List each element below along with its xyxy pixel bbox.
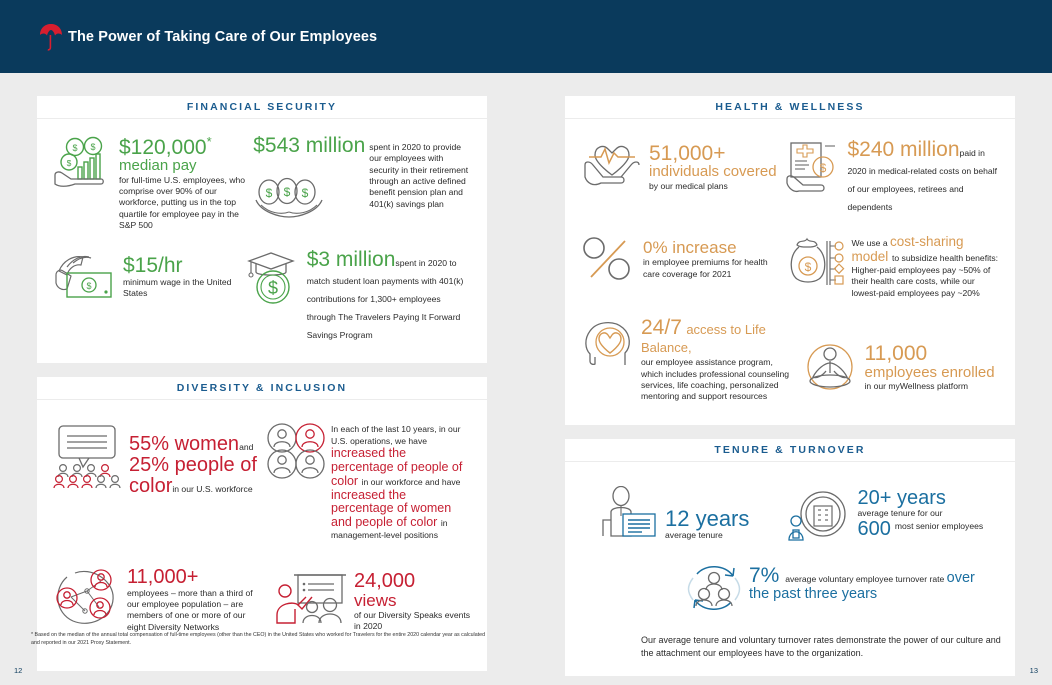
stat-poc-increase-text: In each of the last 10 years, in our U.S… [266, 422, 471, 541]
stat-senior-tenure-headline: 20+ years [857, 488, 999, 508]
stat-diversity-speaks-views: 24,000 views of our Diversity Speaks eve… [262, 549, 475, 641]
panel-title-financial-security: FINANCIAL SECURITY [37, 96, 487, 118]
stat-mywellness-subhead: employees enrolled [865, 365, 999, 381]
panel-financial-security: FINANCIAL SECURITY $ $ $ [37, 96, 487, 363]
stat-average-tenure: 12 years average tenure [577, 480, 781, 554]
stat-minimum-wage-text: $15/hr minimum wage in the United States [123, 249, 237, 343]
stat-average-tenure-headline: 12 years [665, 508, 777, 530]
svg-text:$: $ [90, 142, 95, 152]
stat-student-loan-match-headline: $3 million [307, 248, 396, 271]
stat-medical-costs-paid-headline: $240 millionpaid in 2020 in medical-rela… [847, 139, 999, 215]
infographic-page: The Power of Taking Care of Our Employee… [0, 0, 1052, 685]
gear-building-person-icon [785, 488, 851, 546]
svg-text:$: $ [820, 161, 827, 175]
stat-senior-tenure-body2: most senior employees [895, 519, 983, 532]
turnover-cycle-people-icon [685, 560, 743, 616]
stat-senior-tenure: 20+ years average tenure for our 600 mos… [781, 480, 1003, 554]
umbrella-icon [38, 22, 64, 52]
svg-text:$: $ [266, 186, 273, 200]
money-bag-checklist-icon: $ [785, 235, 845, 299]
stat-medical-costs-paid-text: $240 millionpaid in 2020 in medical-rela… [847, 139, 999, 215]
stat-women-poc-headline: 55% womenand [129, 434, 258, 455]
person-presenting-card-icon [597, 486, 659, 546]
stat-average-tenure-body: average tenure [665, 530, 777, 541]
svg-text:$: $ [67, 158, 72, 168]
stat-senior-tenure-headline2: 600 [857, 519, 890, 539]
stat-life-balance-headline: 24/7 access to Life Balance, [641, 317, 795, 357]
stat-median-pay-headline: $120,000* [119, 135, 245, 158]
panel-diversity-inclusion: DIVERSITY & INCLUSION [37, 377, 487, 671]
left-column: FINANCIAL SECURITY $ $ $ [37, 96, 487, 685]
stat-diversity-networks: 11,000+ employees – more than a third of… [49, 549, 262, 641]
stat-cost-sharing-model: $ [781, 223, 1003, 307]
head-heart-icon [581, 317, 635, 402]
hand-cash-icon: $ [53, 249, 117, 343]
panel-health-wellness: HEALTH & WELLNESS [565, 96, 1015, 425]
panel-title-health-wellness: HEALTH & WELLNESS [565, 96, 1015, 118]
stat-retirement-spend-text: $543 million spent in 2020 to provide ou… [253, 135, 471, 231]
heart-hands-pulse-icon [581, 139, 643, 215]
stat-student-loan-match-text: $3 millionspent in 2020 to match student… [307, 249, 471, 343]
svg-text:$: $ [72, 143, 77, 153]
stat-medical-costs-paid: $ $240 millionpaid in 2020 in medical-re… [781, 133, 1003, 223]
stat-diversity-speaks-headline: 24,000 [354, 571, 471, 591]
stat-individuals-covered-body: by our medical plans [649, 181, 777, 192]
stat-median-pay-subhead: median pay [119, 158, 245, 174]
stat-women-poc-headline2: 25% people of colorin our U.S. workforce [129, 455, 258, 497]
stat-life-balance-text: 24/7 access to Life Balance, our employe… [641, 317, 795, 402]
stat-retirement-spend-body: spent in 2020 to provide our employees w… [369, 135, 471, 210]
stat-average-tenure-text: 12 years average tenure [665, 486, 777, 546]
stat-mywellness-body: in our myWellness platform [865, 381, 999, 392]
svg-text:$: $ [268, 278, 278, 298]
stat-diversity-speaks-body: of our Diversity Speaks events in 2020 [354, 610, 471, 633]
svg-text:$: $ [302, 186, 309, 200]
stat-turnover-rate-text: 7% average voluntary employee turnover r… [749, 560, 999, 616]
four-people-circles-icon [266, 422, 326, 480]
stat-life-balance: 24/7 access to Life Balance, our employe… [577, 307, 799, 410]
svg-text:$: $ [284, 185, 291, 199]
stat-mywellness-enrolled-text: 11,000 employees enrolled in our myWelln… [865, 343, 999, 402]
stat-median-pay: $ $ $ [49, 129, 249, 239]
stat-mywellness-enrolled: 11,000 employees enrolled in our myWelln… [799, 307, 1003, 410]
stat-individuals-covered-text: 51,000+ individuals covered by our medic… [649, 139, 777, 215]
stat-minimum-wage: $ $15/hr minimum wage in the United Stat… [49, 239, 241, 351]
panel-title-tenure-turnover: TENURE & TURNOVER [565, 439, 1015, 461]
page-title: The Power of Taking Care of Our Employee… [68, 29, 377, 45]
svg-text:$: $ [86, 281, 91, 291]
right-column: HEALTH & WELLNESS [565, 96, 1015, 685]
network-people-icon [53, 567, 121, 633]
stat-premium-increase: 0% increase in employee premiums for hea… [577, 223, 781, 307]
stat-diversity-speaks-subhead: views [354, 592, 471, 610]
stat-retirement-spend: $543 million spent in 2020 to provide ou… [249, 129, 475, 239]
stat-turnover-rate: 7% average voluntary employee turnover r… [577, 554, 1003, 624]
presentation-speaker-icon [276, 571, 348, 633]
stat-diversity-networks-text: 11,000+ employees – more than a third of… [127, 567, 258, 633]
footnote: * Based on the median of the annual tota… [31, 632, 491, 648]
stat-cost-sharing-model-text: We use a cost-sharing model to subsidize… [851, 235, 999, 299]
stat-student-loan-match-body: spent in 2020 to match student loan paym… [307, 258, 464, 340]
stat-premium-increase-body: in employee premiums for health care cov… [643, 257, 777, 280]
stat-diversity-networks-body: employees – more than a third of our emp… [127, 588, 258, 633]
stat-premium-increase-headline: 0% increase [643, 239, 777, 257]
brand-logo: The Power of Taking Care of Our Employee… [38, 22, 377, 52]
stat-women-poc: 55% womenand 25% people of colorin our U… [49, 416, 262, 549]
graduation-cap-coin-icon: $ [245, 249, 301, 343]
hand-with-money-chart-icon: $ $ $ [53, 135, 113, 231]
stat-median-pay-text: $120,000* median pay for full-time U.S. … [119, 135, 245, 231]
stat-senior-tenure-text: 20+ years average tenure for our 600 mos… [857, 488, 999, 546]
stat-minimum-wage-headline: $15/hr [123, 255, 237, 276]
stat-median-pay-body: for full-time U.S. employees, who compri… [119, 175, 245, 232]
stat-premium-increase-text: 0% increase in employee premiums for hea… [643, 235, 777, 299]
panel-tenure-turnover: TENURE & TURNOVER [565, 439, 1015, 676]
stat-life-balance-body: our employee assistance program, which i… [641, 357, 795, 402]
stat-poc-increase: In each of the last 10 years, in our U.S… [262, 416, 475, 549]
stat-women-poc-text: 55% womenand 25% people of colorin our U… [129, 422, 258, 541]
stat-minimum-wage-body: minimum wage in the United States [123, 277, 237, 300]
stat-poc-increase-rich: In each of the last 10 years, in our U.S… [331, 422, 471, 541]
page-number-right: 13 [1030, 666, 1038, 675]
stat-individuals-covered: 51,000+ individuals covered by our medic… [577, 133, 781, 223]
stat-student-loan-match: $ $3 millionspent in 2020 to match stude… [241, 239, 475, 351]
stat-individuals-covered-subhead: individuals covered [649, 164, 777, 180]
percent-sign-icon [581, 235, 637, 299]
stat-diversity-speaks-views-text: 24,000 views of our Diversity Speaks eve… [354, 571, 471, 633]
medical-bill-hand-icon: $ [785, 139, 841, 215]
svg-text:$: $ [805, 260, 812, 274]
stat-diversity-networks-headline: 11,000+ [127, 567, 258, 587]
speech-bubble-people-icon [53, 422, 123, 541]
page-number-left: 12 [14, 666, 22, 675]
page-header: The Power of Taking Care of Our Employee… [0, 0, 1052, 73]
tenure-summary-text: Our average tenure and voluntary turnove… [577, 624, 1003, 660]
stat-retirement-spend-headline: $543 million [253, 135, 365, 156]
stat-individuals-covered-headline: 51,000+ [649, 143, 777, 164]
meditation-person-icon [803, 343, 859, 402]
stat-mywellness-headline: 11,000 [865, 343, 999, 364]
panel-title-diversity-inclusion: DIVERSITY & INCLUSION [37, 377, 487, 399]
